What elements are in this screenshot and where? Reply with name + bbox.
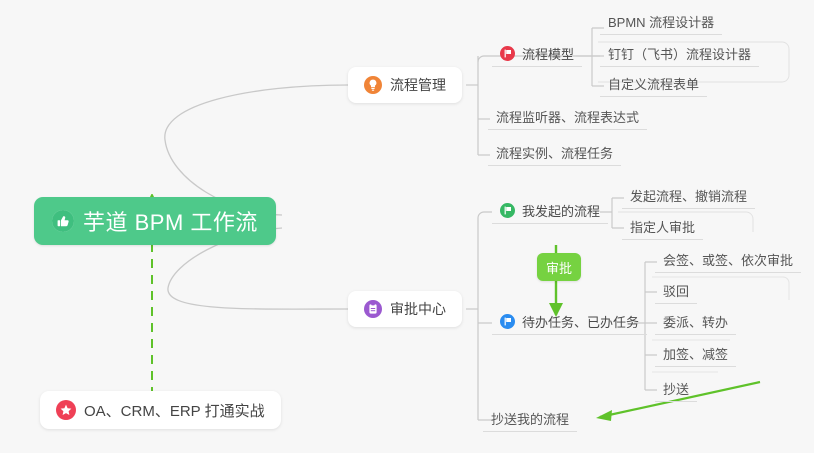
flag-icon [500,203,515,218]
lightbulb-icon [364,76,382,94]
leaf-label: 驳回 [663,281,689,300]
leaf-label: 流程监听器、流程表达式 [496,107,639,126]
leaf-node-instance-task[interactable]: 流程实例、流程任务 [488,143,621,166]
bottom-note-label: OA、CRM、ERP 打通实战 [84,400,265,421]
leaf-label: 指定人审批 [630,217,695,236]
tag-node-approval[interactable]: 审批 [537,253,581,281]
leaf-node-dingtalk-designer[interactable]: 钉钉（飞书）流程设计器 [600,44,759,67]
branch-label-approval-center: 审批中心 [390,299,446,319]
group-label-my-started-processes: 我发起的流程 [522,201,600,220]
group-label-process-model: 流程模型 [522,44,574,63]
leaf-node-cc[interactable]: 抄送 [655,379,697,402]
leaf-label: 发起流程、撤销流程 [630,186,747,205]
branch-node-process-management[interactable]: 流程管理 [348,67,462,103]
mindmap-canvas: 芋道 BPM 工作流 OA、CRM、ERP 打通实战 流程管理 [0,0,814,453]
group-node-my-started-processes[interactable]: 我发起的流程 [492,201,608,224]
root-node[interactable]: 芋道 BPM 工作流 [34,197,276,245]
leaf-node-add-remove-sign[interactable]: 加签、减签 [655,344,736,367]
branch-node-approval-center[interactable]: 审批中心 [348,291,462,327]
leaf-label: 加签、减签 [663,344,728,363]
tag-label: 审批 [546,258,572,277]
leaf-node-assignee-approval[interactable]: 指定人审批 [622,217,703,240]
leaf-label: 委派、转办 [663,312,728,331]
leaf-label: 抄送我的流程 [491,409,569,428]
thumbs-up-icon [52,210,74,232]
leaf-node-custom-form[interactable]: 自定义流程表单 [600,74,707,97]
flag-icon [500,314,515,329]
leaf-label: BPMN 流程设计器 [608,12,714,31]
leaf-node-cc-to-me[interactable]: 抄送我的流程 [483,409,577,432]
group-node-process-model[interactable]: 流程模型 [492,44,582,67]
bottom-note-node[interactable]: OA、CRM、ERP 打通实战 [40,391,281,429]
branch-label-process-management: 流程管理 [390,75,446,95]
leaf-label: 自定义流程表单 [608,74,699,93]
leaf-label: 抄送 [663,379,689,398]
leaf-node-reject[interactable]: 驳回 [655,281,697,304]
leaf-label: 会签、或签、依次审批 [663,250,793,269]
leaf-node-delegate-transfer[interactable]: 委派、转办 [655,312,736,335]
leaf-node-countersign[interactable]: 会签、或签、依次审批 [655,250,801,273]
leaf-node-start-cancel-process[interactable]: 发起流程、撤销流程 [622,186,755,209]
leaf-label: 钉钉（飞书）流程设计器 [608,44,751,63]
leaf-node-listener-expression[interactable]: 流程监听器、流程表达式 [488,107,647,130]
star-icon [56,400,76,420]
group-label-todo-done-tasks: 待办任务、已办任务 [522,312,639,331]
leaf-label: 流程实例、流程任务 [496,143,613,162]
root-label: 芋道 BPM 工作流 [83,205,258,237]
group-node-todo-done-tasks[interactable]: 待办任务、已办任务 [492,312,647,335]
clipboard-icon [364,300,382,318]
leaf-node-bpmn-designer[interactable]: BPMN 流程设计器 [600,12,722,35]
flag-icon [500,46,515,61]
